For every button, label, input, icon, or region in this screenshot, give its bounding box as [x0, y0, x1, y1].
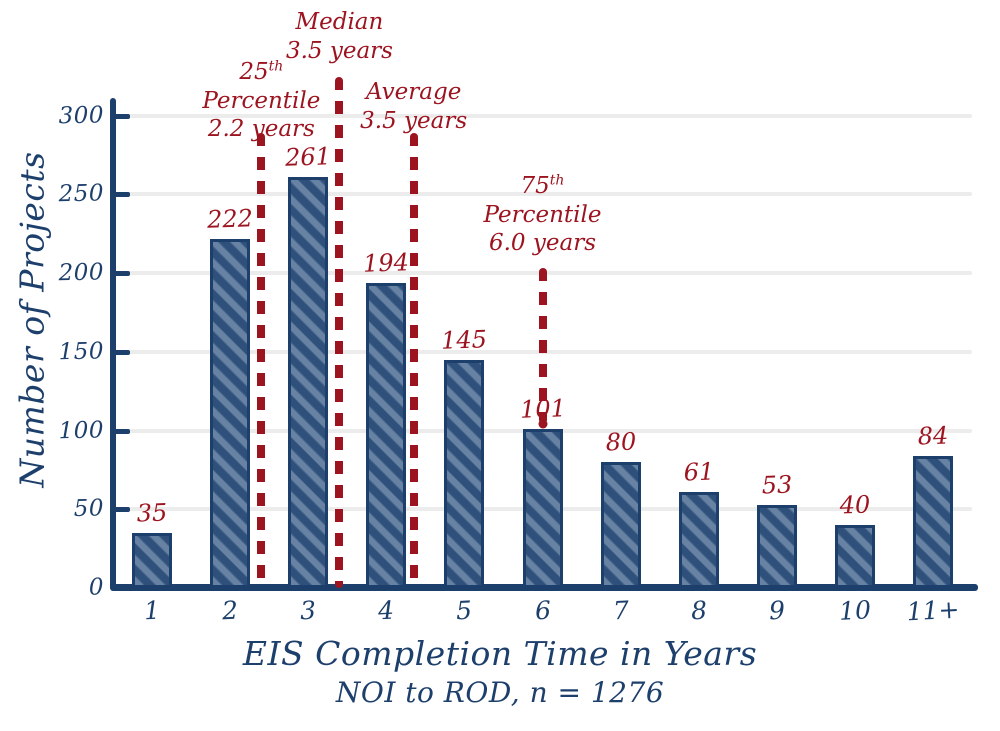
bar[interactable]: [913, 456, 953, 588]
x-axis-tick-label: 3: [300, 596, 317, 626]
y-axis-tick-label: 0: [40, 574, 105, 601]
x-axis-tick-label: 5: [456, 596, 473, 626]
annotation-value: 3.5 years: [360, 107, 467, 136]
annotation-value: 2.2 years: [202, 115, 320, 144]
annotation-title: 75th: [484, 172, 602, 201]
ordinal-suffix: th: [550, 172, 565, 188]
bar-value-label: 194: [363, 248, 410, 278]
annotation-line-p25: [257, 133, 265, 588]
bar[interactable]: [757, 505, 797, 588]
x-axis-tick-label: 6: [534, 596, 551, 626]
bar-value-label: 61: [683, 457, 715, 486]
annotation-endpoint-p75: [538, 420, 547, 429]
x-axis-subtitle: NOI to ROD, n = 1276: [0, 676, 1000, 709]
chart-container: 050100150200250300 Number of Projects 35…: [0, 0, 1000, 731]
bar-value-label: 35: [136, 498, 168, 527]
x-axis-title: EIS Completion Time in Years: [0, 634, 1000, 673]
x-axis-tick-label: 11+: [906, 595, 960, 627]
x-axis-tick-label: 4: [378, 596, 395, 626]
x-axis-tick-label: 2: [221, 596, 238, 626]
bar[interactable]: [444, 360, 484, 588]
bar[interactable]: [210, 239, 250, 588]
annotation-subtitle: Percentile: [484, 201, 602, 230]
annotation-label-median: Median3.5 years: [286, 8, 393, 65]
annotation-line-average: [410, 133, 418, 588]
bar-value-label: 261: [285, 142, 332, 172]
annotation-label-p25: 25thPercentile2.2 years: [202, 58, 320, 144]
bar[interactable]: [132, 533, 172, 588]
x-axis-tick-label: 10: [838, 595, 871, 626]
bar[interactable]: [523, 429, 563, 588]
x-axis-tick-label: 1: [143, 596, 160, 626]
bar-value-label: 84: [917, 421, 949, 450]
annotation-label-p75: 75thPercentile6.0 years: [484, 172, 602, 258]
annotation-title: Average: [360, 78, 467, 107]
x-axis-tick-label: 8: [690, 596, 707, 626]
x-axis-tick-label: 9: [768, 596, 785, 626]
x-axis-tick-label: 7: [612, 596, 629, 626]
annotation-value: 3.5 years: [286, 37, 393, 66]
ordinal-suffix: th: [269, 58, 284, 74]
y-axis-title: Number of Projects: [13, 120, 52, 520]
bar-value-label: 80: [605, 428, 637, 457]
bar-value-label: 222: [207, 204, 254, 234]
annotation-value: 6.0 years: [484, 229, 602, 258]
bar[interactable]: [835, 525, 875, 588]
annotation-line-median: [335, 77, 343, 588]
bar-value-label: 145: [441, 325, 488, 355]
bar-value-label: 53: [761, 470, 793, 499]
bar[interactable]: [366, 283, 406, 588]
annotation-line-p75: [539, 268, 547, 424]
annotation-subtitle: Percentile: [202, 87, 320, 116]
bar[interactable]: [601, 462, 641, 588]
bar[interactable]: [288, 177, 328, 588]
annotation-label-average: Average3.5 years: [360, 78, 467, 135]
bar[interactable]: [679, 492, 719, 588]
annotation-title: Median: [286, 8, 393, 37]
bar-value-label: 40: [839, 491, 871, 520]
